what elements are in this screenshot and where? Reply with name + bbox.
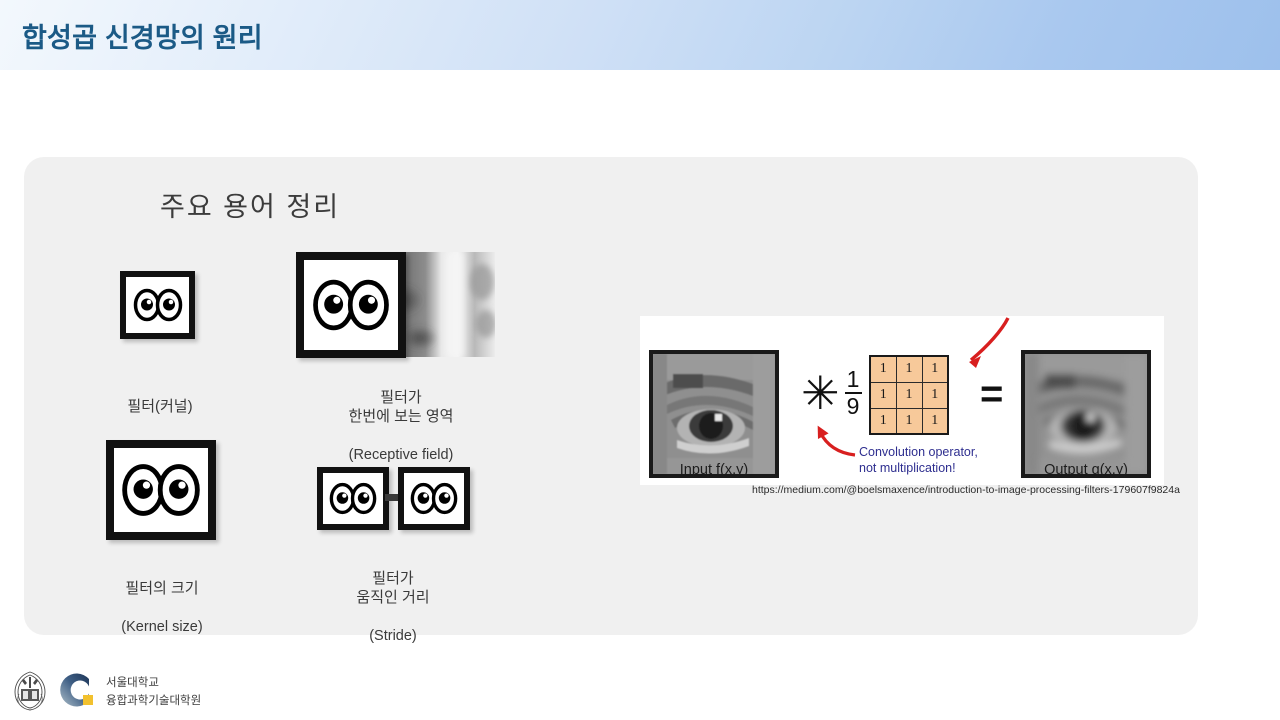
c-logo: [56, 670, 96, 715]
output-image: [1021, 350, 1151, 478]
stride-eyes-box-left: [317, 467, 389, 530]
eyes-icon: [409, 482, 459, 515]
kernel-cell: 1: [896, 382, 922, 408]
kernel-row: 1 1 1: [870, 382, 948, 408]
caption-ko: 필터가 한번에 보는 영역: [301, 388, 501, 426]
stride-eyes-box-right: [398, 467, 470, 530]
kernel-size-eyes-box: [106, 440, 216, 540]
kernel-cell: 1: [870, 382, 896, 408]
kernel-row: 1 1 1: [870, 408, 948, 434]
kernel-cell: 1: [922, 408, 948, 434]
footer-org-line1: 서울대학교: [106, 675, 201, 693]
kernel-scale-fraction: 1 9: [842, 368, 864, 419]
receptive-field-eyes-box: [296, 252, 406, 358]
caption-en: (Kernel size): [81, 618, 243, 637]
caption-en: (Stride): [293, 627, 493, 646]
kernel-cell: 1: [896, 408, 922, 434]
slide-header: 합성곱 신경망의 원리: [0, 0, 1280, 70]
filter-kernel-eyes-box: [120, 271, 195, 339]
caption-en: (Receptive field): [301, 446, 501, 465]
kernel-cell: 1: [922, 382, 948, 408]
kernel-cell: 1: [870, 408, 896, 434]
caption-kernel-size: 필터의 크기 (Kernel size): [81, 560, 243, 655]
kernel-matrix: 1 1 1 1 1 1 1 1 1: [869, 355, 949, 435]
caption-stride: 필터가 움직인 거리 (Stride): [293, 550, 493, 664]
convolution-operator-icon: ✳: [801, 370, 840, 416]
source-url[interactable]: https://medium.com/@boelsmaxence/introdu…: [752, 484, 1180, 496]
eyes-icon: [328, 482, 378, 515]
equals-icon: =: [980, 374, 1003, 414]
eyes-icon: [119, 462, 203, 518]
snu-emblem-icon: [10, 670, 50, 717]
page-title: 합성곱 신경망의 원리: [22, 16, 263, 55]
caption-ko: 필터가 움직인 거리: [293, 569, 493, 607]
kernel-row: 1 1 1: [870, 356, 948, 382]
kernel-cell: 1: [896, 356, 922, 382]
eyes-icon: [132, 288, 184, 322]
fraction-numerator: 1: [842, 368, 864, 391]
caption-ko: 필터의 크기: [81, 579, 243, 598]
card-title: 주요 용어 정리: [160, 185, 340, 224]
eyes-icon: [310, 276, 392, 334]
input-label: Input f(x,y): [649, 462, 779, 478]
kernel-cell: 1: [870, 356, 896, 382]
output-label: Output g(x,y): [1021, 462, 1151, 478]
caption-filter-kernel: 필터(커널): [80, 378, 240, 436]
input-image: [649, 350, 779, 478]
kernel-cell: 1: [922, 356, 948, 382]
caption-ko: 필터(커널): [80, 397, 240, 416]
fraction-denominator: 9: [842, 395, 864, 418]
footer-organization: 서울대학교 융합과학기술대학원: [106, 675, 201, 711]
convolution-figure: Input f(x,y) ✳ 1 9 1 1 1 1 1 1 1 1: [640, 316, 1164, 485]
footer-org-line2: 융합과학기술대학원: [106, 693, 201, 711]
slide-root: 합성곱 신경망의 원리 주요 용어 정리 필터(커널): [0, 0, 1280, 720]
convolution-annotation: Convolution operator, not multiplication…: [859, 444, 999, 477]
